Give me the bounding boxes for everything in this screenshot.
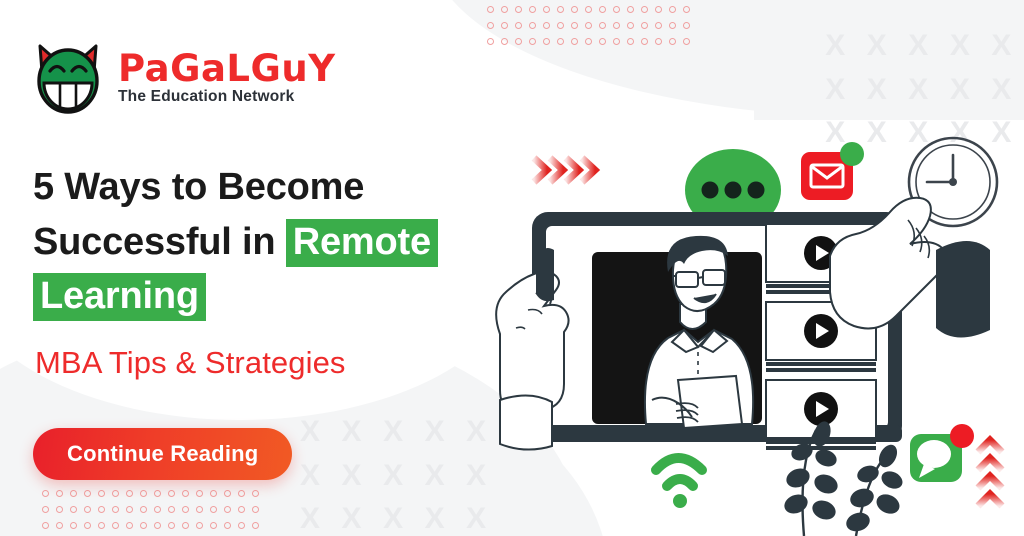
thumb-shadow <box>536 248 554 301</box>
dot <box>98 506 105 513</box>
dot <box>98 522 105 529</box>
dot <box>196 522 203 529</box>
brand-wordmark: PaGaLGuY The Education Network <box>118 50 336 105</box>
dot <box>210 522 217 529</box>
dot <box>154 506 161 513</box>
dot <box>238 490 245 497</box>
dot <box>196 490 203 497</box>
continue-reading-button[interactable]: Continue Reading <box>33 428 292 480</box>
hero-illustration <box>470 0 1024 536</box>
dot <box>154 490 161 497</box>
pagalguy-devil-smiley-icon <box>32 38 104 116</box>
brand-name: PaGaLGuY <box>118 50 336 87</box>
dot-grid-bottom <box>42 490 257 529</box>
sleeve-shadow <box>936 241 990 338</box>
dot <box>70 490 77 497</box>
dot <box>70 506 77 513</box>
dot <box>140 490 147 497</box>
dot <box>126 490 133 497</box>
dot <box>224 490 231 497</box>
dot <box>42 506 49 513</box>
headline-highlight-remote: Remote <box>286 219 438 267</box>
dot <box>56 522 63 529</box>
dot <box>182 522 189 529</box>
dot <box>84 490 91 497</box>
notification-dot-green-icon <box>840 142 864 166</box>
wifi-signal-icon <box>656 458 702 508</box>
dot <box>56 490 63 497</box>
chevron-arrows-right-icon <box>534 158 595 182</box>
dot <box>140 506 147 513</box>
dot <box>126 506 133 513</box>
dot <box>112 506 119 513</box>
x-watermark-middle: X X X X X X X X X X X X X X X <box>300 410 493 536</box>
subheadline: MBA Tips & Strategies <box>35 345 346 381</box>
dot <box>224 506 231 513</box>
dot <box>182 506 189 513</box>
dot <box>210 506 217 513</box>
dot <box>238 506 245 513</box>
dot <box>84 506 91 513</box>
headline-line-2-plain: Successful in <box>33 221 286 263</box>
dot <box>70 522 77 529</box>
brand-tagline: The Education Network <box>118 89 336 105</box>
dot <box>42 490 49 497</box>
dot <box>182 490 189 497</box>
dot <box>140 522 147 529</box>
dot <box>168 522 175 529</box>
dot <box>98 490 105 497</box>
notification-dot-red-icon <box>950 424 974 448</box>
dot <box>56 506 63 513</box>
dot <box>196 506 203 513</box>
dot <box>224 522 231 529</box>
dot <box>168 506 175 513</box>
dot <box>112 522 119 529</box>
chevron-arrows-up-icon <box>978 440 1002 506</box>
dot <box>210 490 217 497</box>
email-envelope-icon <box>801 142 864 200</box>
dot <box>42 522 49 529</box>
dot <box>238 522 245 529</box>
dot <box>252 506 259 513</box>
headline-highlight-learning: Learning <box>33 273 206 321</box>
dot <box>252 522 259 529</box>
dot <box>154 522 161 529</box>
message-bubble-app-icon <box>910 424 974 482</box>
promo-banner: X X X X X X X X X X X X X X X X X X X X … <box>0 0 1024 536</box>
dot <box>168 490 175 497</box>
dot <box>252 490 259 497</box>
dot <box>84 522 91 529</box>
dot <box>126 522 133 529</box>
brand-logo[interactable]: PaGaLGuY The Education Network <box>32 38 336 116</box>
dot <box>112 490 119 497</box>
